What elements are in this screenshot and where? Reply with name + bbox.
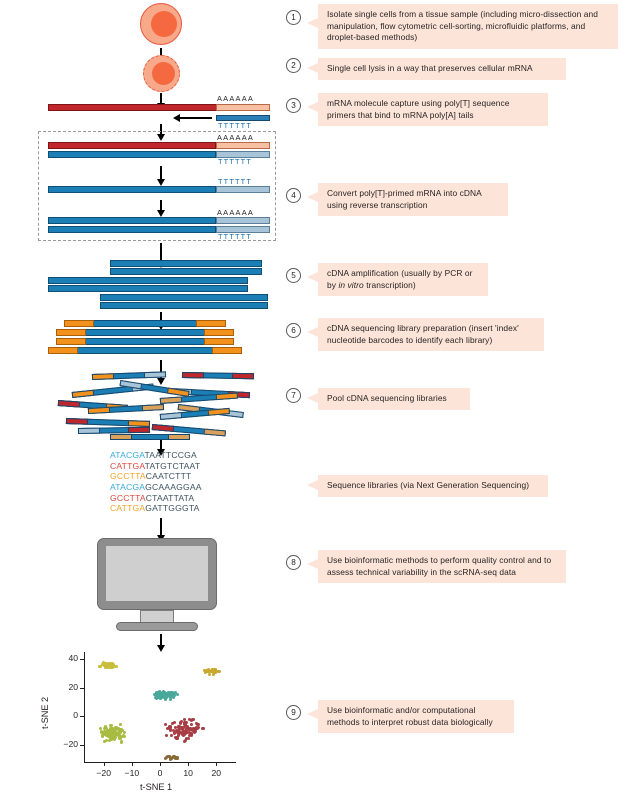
step-number-7: 7 <box>286 388 301 403</box>
tsne-point <box>171 722 174 725</box>
cdna-single-primer-bar <box>216 186 270 193</box>
rt-poly-t-label: TTTTTT <box>218 157 252 166</box>
tsne-plot: −2002040−20−1001020t-SNE 1t-SNE 2 <box>84 652 236 762</box>
step-number-5: 5 <box>286 268 301 283</box>
callout-step-3: mRNA molecule capture using poly[T] sequ… <box>318 93 548 126</box>
tsne-y-tick-label: −20 <box>50 739 78 749</box>
amplified-cdna-2 <box>110 268 262 275</box>
computer-monitor-base <box>116 622 198 631</box>
figure-canvas: Isolate single cells from a tissue sampl… <box>0 0 640 806</box>
index-adapter-right-4 <box>212 347 242 354</box>
pooled-fragment-adapter-left <box>92 373 114 379</box>
callout-step-8: Use bioinformatic methods to perform qua… <box>318 550 566 583</box>
callout-tail <box>307 63 318 73</box>
amplified-cdna-3 <box>48 277 248 284</box>
sequence-barcode: GCCTTA <box>110 493 146 503</box>
sequence-row-2: CATTGATATGTCTAAT <box>110 461 202 472</box>
sequence-barcode: CATTGA <box>110 503 145 513</box>
tsne-point <box>123 731 126 734</box>
tsne-y-tick <box>80 745 84 746</box>
index-adapter-left-4 <box>48 347 78 354</box>
amplified-cdna-5 <box>100 294 268 301</box>
callout-tail <box>307 18 318 28</box>
tsne-x-tick <box>104 762 105 766</box>
tsne-point <box>121 735 124 738</box>
tsne-y-axis <box>84 652 85 762</box>
sequence-row-5: GCCTTACTAATTATA <box>110 493 202 504</box>
pooled-fragment-9 <box>66 418 150 427</box>
tsne-point <box>158 692 161 695</box>
poly-a-label: AAAAAA <box>217 94 254 103</box>
ds-cdna-bottom <box>48 226 216 233</box>
arrow-rt-stage2-head <box>157 210 165 217</box>
pooled-fragment-1 <box>92 371 166 379</box>
callout-step-6: cDNA sequencing library preparation (ins… <box>318 318 544 351</box>
pooled-fragment-adapter-right <box>232 373 254 379</box>
sequence-body: CAATCTTT <box>146 471 192 481</box>
tsne-point <box>176 693 179 696</box>
callout-tail <box>307 327 318 337</box>
library-cdna-3 <box>74 338 216 345</box>
rt-cdna-strand <box>48 151 216 158</box>
tsne-x-tick <box>188 762 189 766</box>
step-number-6: 6 <box>286 323 301 338</box>
tsne-point <box>196 727 199 730</box>
pooled-fragment-adapter-right <box>204 429 226 436</box>
sequence-body: CTAATTATA <box>146 493 195 503</box>
poly-t-label: TTTTTT <box>218 121 252 130</box>
tsne-point <box>190 723 193 726</box>
sequence-barcode: GCCTTA <box>110 471 146 481</box>
callout-step-sequence: Sequence libraries (via Next Generation … <box>318 475 548 497</box>
pooled-fragment-adapter-left <box>88 407 110 414</box>
sequence-barcode: ATACGA <box>110 450 145 460</box>
callout-tail <box>307 480 318 490</box>
intact-cell-nucleus <box>151 11 177 37</box>
sequence-body: TATGTCTAAT <box>145 461 201 471</box>
tsne-point <box>203 669 206 672</box>
tsne-x-tick-label: 20 <box>202 768 230 778</box>
amplified-cdna-6 <box>100 302 268 309</box>
step-number-8: 8 <box>286 555 301 570</box>
arrow-library-to-pool-head <box>157 378 165 385</box>
step-number-1: 1 <box>286 10 301 25</box>
poly-a-tail-bar <box>216 104 270 111</box>
arrow-sequencing-to-analysis <box>160 518 162 536</box>
tsne-point <box>164 723 167 726</box>
pooled-fragment-adapter-left <box>182 372 204 378</box>
pooled-fragment-6 <box>160 393 238 404</box>
step-number-2: 2 <box>286 58 301 73</box>
tsne-point <box>119 723 122 726</box>
tsne-x-tick-label: 0 <box>146 768 174 778</box>
library-cdna-1 <box>82 320 208 327</box>
callout-tail <box>307 393 318 403</box>
rt3-poly-t-label: TTTTTT <box>218 232 252 241</box>
tsne-x-tick <box>160 762 161 766</box>
tsne-y-tick <box>80 716 84 717</box>
rt3-poly-a-label: AAAAAA <box>217 208 254 217</box>
pooled-fragment-adapter-right <box>216 393 238 400</box>
tsne-point <box>161 695 164 698</box>
rt-poly-a-label: AAAAAA <box>217 133 254 142</box>
rt-poly-a-bar <box>216 142 270 149</box>
sequence-barcode: CATTGA <box>110 461 145 471</box>
tsne-ylabel: t-SNE 2 <box>40 697 50 729</box>
pooled-fragment-adapter-right <box>144 371 166 377</box>
pooled-fragment-adapter-right <box>142 404 164 411</box>
pooled-fragment-adapter-left <box>160 396 182 403</box>
pooled-fragment-13 <box>110 434 190 440</box>
tsne-point <box>174 736 177 739</box>
tsne-y-tick-label: 0 <box>50 710 78 720</box>
sequence-body: TAATTCCGA <box>145 450 197 460</box>
tsne-point <box>164 757 167 760</box>
tsne-point <box>187 737 190 740</box>
tsne-point <box>191 718 194 721</box>
pooled-fragment-adapter-left <box>78 428 100 434</box>
pooled-fragment-adapter-left <box>160 412 182 419</box>
tsne-point <box>104 725 107 728</box>
tsne-x-tick-label: −20 <box>90 768 118 778</box>
callout-step-4: Convert poly[T]-primed mRNA into cDNA us… <box>318 183 508 216</box>
primer-binding-arrowhead <box>173 114 180 122</box>
arrow-rt-stage1 <box>160 166 162 180</box>
callout-step-9: Use bioinformatic and/or computational m… <box>318 700 514 733</box>
tsne-point <box>165 734 168 737</box>
sequence-barcode: ATACGA <box>110 482 145 492</box>
tsne-point <box>185 725 188 728</box>
sequence-row-6: CATTGAGATTGGGTA <box>110 503 202 514</box>
tsne-point <box>217 670 220 673</box>
tsne-point <box>108 739 111 742</box>
step-number-4: 4 <box>286 188 301 203</box>
tsne-y-tick-label: 40 <box>50 653 78 663</box>
callout-tail <box>307 559 318 569</box>
callout-tail <box>307 709 318 719</box>
primer-binding-arrow <box>176 117 212 119</box>
callout-step-7: Pool cDNA sequencing libraries <box>318 388 470 410</box>
pooled-fragment-adapter-left <box>110 434 132 440</box>
amplified-cdna-4 <box>48 285 248 292</box>
tsne-point <box>120 740 123 743</box>
tsne-y-tick-label: 20 <box>50 682 78 692</box>
pooled-fragment-adapter-left <box>58 400 80 407</box>
tsne-point <box>184 739 187 742</box>
sequence-body: GATTGGGTA <box>145 503 199 513</box>
callout-tail <box>307 272 318 282</box>
index-adapter-left-1 <box>64 320 94 327</box>
step-number-9: 9 <box>286 705 301 720</box>
pooled-fragment-adapter-left <box>152 424 174 431</box>
tsne-y-tick <box>80 659 84 660</box>
lysing-cell-nucleus <box>152 62 175 85</box>
sequence-row-3: GCCTTACAATCTTT <box>110 471 202 482</box>
tsne-point <box>197 723 200 726</box>
callout-step-2: Single cell lysis in a way that preserve… <box>318 58 566 80</box>
callout-step-1: Isolate single cells from a tissue sampl… <box>318 4 618 49</box>
sequence-readout-block: ATACGATAATTCCGACATTGATATGTCTAATGCCTTACAA… <box>110 450 202 514</box>
index-adapter-right-2 <box>204 329 234 336</box>
pooled-fragment-adapter-right <box>128 420 150 426</box>
library-cdna-2 <box>74 329 216 336</box>
callout-tail <box>307 102 318 112</box>
tsne-point <box>190 732 193 735</box>
index-adapter-right-3 <box>204 338 234 345</box>
callout-tail <box>307 192 318 202</box>
pooled-fragment-11 <box>78 427 150 434</box>
arrow-analysis-to-tsne-head <box>157 645 165 652</box>
sequence-body: GCAAAGGAA <box>145 482 202 492</box>
rt-mrna-strand <box>48 142 216 149</box>
ds-cdna-top-end <box>216 217 270 224</box>
sequence-row-4: ATACGAGCAAAGGAA <box>110 482 202 493</box>
tsne-point <box>185 731 188 734</box>
amplified-cdna-1 <box>110 260 262 267</box>
cdna-single-strand <box>48 186 216 193</box>
tsne-point <box>112 664 115 667</box>
tsne-point <box>99 727 102 730</box>
pooled-fragment-adapter-right <box>128 427 150 433</box>
rt2-poly-t-label: TTTTTT <box>218 177 252 186</box>
pooled-fragment-adapter-right <box>168 434 190 440</box>
sequence-row-1: ATACGATAATTCCGA <box>110 450 202 461</box>
arrow-rt-stage1-head <box>157 179 165 186</box>
tsne-xlabel: t-SNE 1 <box>140 782 172 792</box>
tsne-point <box>202 727 205 730</box>
tsne-point <box>173 732 176 735</box>
tsne-point <box>113 731 116 734</box>
pooled-fragment-adapter-left <box>66 418 88 424</box>
pooled-fragment-2 <box>182 372 254 379</box>
callout-step-5: cDNA amplification (usually by PCR or by… <box>318 263 488 296</box>
tsne-point <box>107 663 110 666</box>
ds-cdna-top <box>48 217 216 224</box>
pooled-fragment-adapter-left <box>72 390 94 398</box>
tsne-x-tick <box>132 762 133 766</box>
index-adapter-left-3 <box>56 338 86 345</box>
tsne-point <box>171 756 174 759</box>
computer-monitor-screen <box>105 545 209 602</box>
tsne-point <box>212 673 215 676</box>
library-cdna-4 <box>66 347 224 354</box>
index-adapter-right-1 <box>196 320 226 327</box>
tsne-x-tick <box>216 762 217 766</box>
index-adapter-left-2 <box>56 329 86 336</box>
tsne-point <box>193 731 196 734</box>
tsne-x-tick-label: 10 <box>174 768 202 778</box>
tsne-point <box>208 673 211 676</box>
step-number-3: 3 <box>286 98 301 113</box>
tsne-y-tick <box>80 688 84 689</box>
tsne-x-tick-label: −10 <box>118 768 146 778</box>
